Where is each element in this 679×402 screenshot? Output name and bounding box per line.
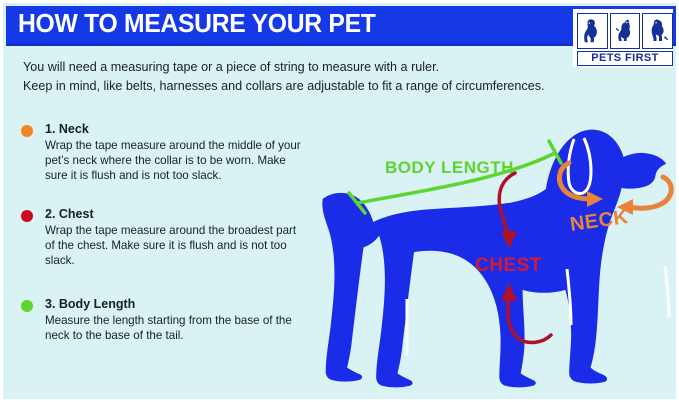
page-title: HOW TO MEASURE YOUR PET <box>18 8 376 38</box>
intro-line-1: You will need a measuring tape or a piec… <box>23 58 623 77</box>
step-body-length: 3. Body Length Measure the length starti… <box>21 296 301 343</box>
step-chest-body: Wrap the tape measure around the broades… <box>45 223 301 269</box>
logo-panels <box>577 13 673 49</box>
dog-diagram: BODY LENGTH NECK CHEST <box>303 111 679 402</box>
bullet-body-length-icon <box>21 300 33 312</box>
bullet-neck-icon <box>21 125 33 137</box>
chest-label: CHEST <box>475 255 542 276</box>
step-body-length-title: 3. Body Length <box>45 296 301 312</box>
dog-begging-icon <box>610 13 641 49</box>
intro-text: You will need a measuring tape or a piec… <box>23 58 623 96</box>
dog-standing-icon <box>642 13 673 49</box>
dog-sitting-icon <box>577 13 608 49</box>
dog-hind-leg-line <box>665 266 669 317</box>
step-neck-body: Wrap the tape measure around the middle … <box>45 138 301 184</box>
step-chest-title: 2. Chest <box>45 206 301 222</box>
step-neck: 1. Neck Wrap the tape measure around the… <box>21 121 301 184</box>
body-length-label: BODY LENGTH <box>385 158 514 177</box>
steps-list: 1. Neck Wrap the tape measure around the… <box>21 121 301 358</box>
step-neck-title: 1. Neck <box>45 121 301 137</box>
bullet-chest-icon <box>21 210 33 222</box>
infographic-page: HOW TO MEASURE YOUR PET <box>0 0 679 402</box>
step-chest: 2. Chest Wrap the tape measure around th… <box>21 206 301 269</box>
step-body-length-body: Measure the length starting from the bas… <box>45 313 301 343</box>
intro-line-2: Keep in mind, like belts, harnesses and … <box>23 77 623 96</box>
